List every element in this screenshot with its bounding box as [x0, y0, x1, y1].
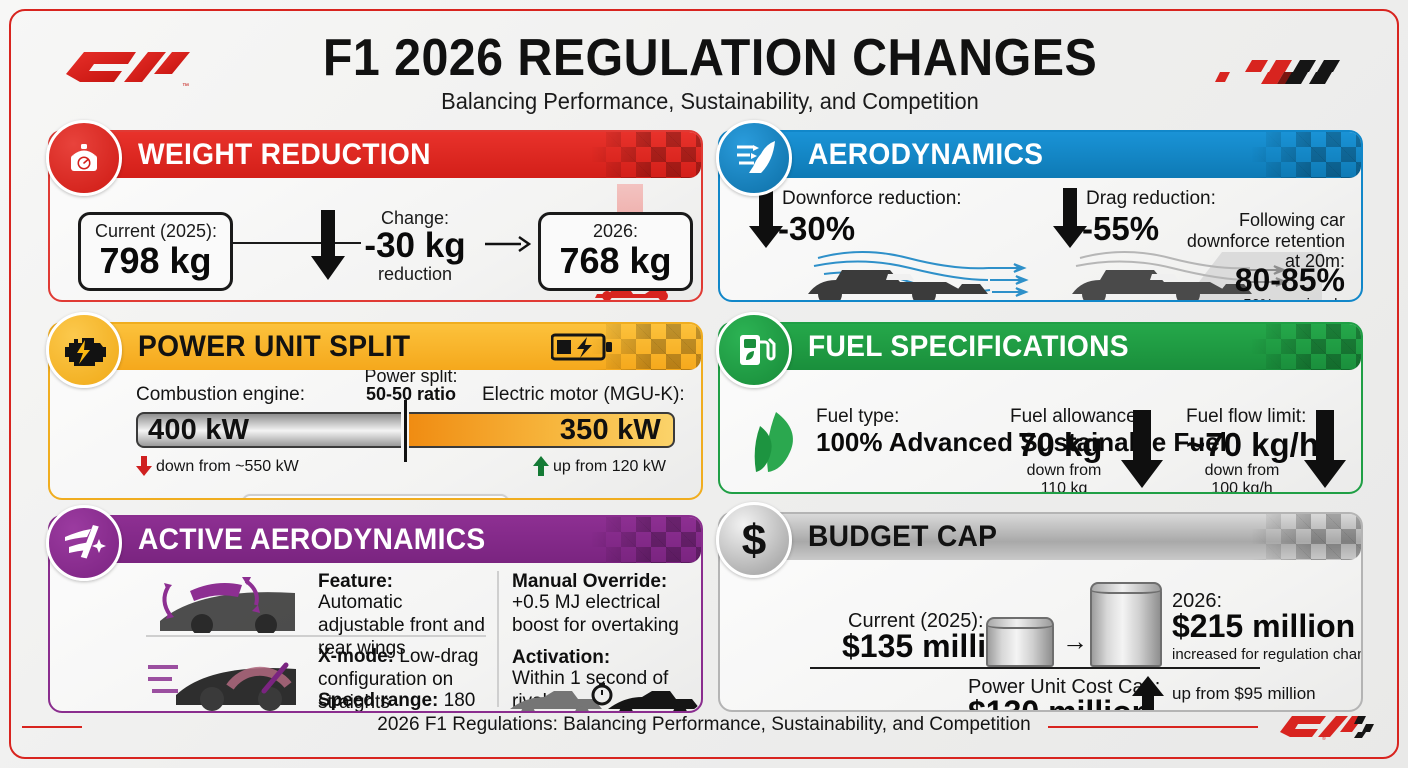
- svg-text:®: ®: [1322, 735, 1326, 742]
- weight-change-value: -30 kg: [340, 228, 490, 263]
- fuel-header: FUEL SPECIFICATIONS: [766, 324, 1361, 370]
- power-unit-header: POWER UNIT SPLIT: [96, 324, 701, 370]
- fuel-type-label: Fuel type:: [816, 406, 899, 428]
- up-arrow-icon: [1132, 676, 1164, 710]
- active-aero-header: ACTIVE AERODYNAMICS: [96, 517, 701, 563]
- fuel-pump-leaf-icon: [716, 312, 792, 388]
- following-value: 80-85%: [1167, 264, 1345, 298]
- down-arrow-red-icon: [136, 456, 152, 476]
- downforce-label: Downforce reduction:: [782, 188, 962, 210]
- feature-label: Feature:: [318, 571, 393, 593]
- card-active-aero: ACTIVE AERODYNAMICS: [48, 515, 703, 713]
- bar-2026-cap: [1090, 582, 1162, 594]
- ice-label: Combustion engine:: [136, 384, 305, 406]
- xmode-label: X-mode:: [318, 646, 394, 667]
- active-aero-title: ACTIVE AERODYNAMICS: [138, 523, 485, 557]
- budget-future-value: $215 million: [1172, 610, 1355, 644]
- fuel-title: FUEL SPECIFICATIONS: [808, 330, 1129, 364]
- weight-header: WEIGHT REDUCTION: [96, 132, 701, 178]
- em-bar: 350 kW: [409, 412, 675, 448]
- card-power-unit: POWER UNIT SPLIT Combustion engine: Powe…: [48, 322, 703, 500]
- weight-future-value: 768 kg: [555, 242, 676, 280]
- fuel-allowance-sub: down from 110 kg: [1018, 462, 1110, 492]
- budget-future-note: increased for regulation changes: [1172, 646, 1361, 663]
- fuel-allowance-value: 70 kg: [1018, 428, 1102, 461]
- card-aerodynamics: AERODYNAMICS Downforce reduction: -30% D…: [718, 130, 1363, 302]
- aero-title: AERODYNAMICS: [808, 138, 1043, 172]
- adjustable-wing-graphic: [150, 573, 305, 633]
- bar-current-cap: [986, 617, 1054, 629]
- up-arrow-green-icon: [533, 456, 549, 476]
- right-arrow-icon: [485, 233, 531, 255]
- fuel-type-value: 100% Advanced Sustainable Fuel: [816, 428, 1016, 457]
- following-note: vs 50% previously: [1167, 296, 1345, 300]
- fuel-flow-value: ~70 kg/h: [1186, 428, 1319, 461]
- battery-charge-icon: [551, 333, 613, 361]
- fuel-body: Fuel type: 100% Advanced Sustainable Fue…: [720, 370, 1361, 492]
- growth-arrow-icon: →: [1062, 626, 1088, 657]
- downforce-value: -30%: [778, 212, 855, 245]
- xmode-speed-graphic: [146, 647, 306, 711]
- power-unit-body: Combustion engine: Power split: 50-50 ra…: [50, 370, 701, 498]
- leaf-icon: [746, 410, 806, 474]
- weight-future-box: 2026: 768 kg: [538, 212, 693, 291]
- ice-value: 400 kW: [148, 414, 249, 447]
- checker-pattern: [591, 517, 701, 563]
- checker-pattern: [1251, 324, 1361, 370]
- fuel-flow-sub: down from 100 kg/h: [1190, 462, 1294, 492]
- weight-current-label: Current (2025):: [95, 221, 216, 242]
- bar-current: [986, 617, 1054, 667]
- checker-pattern: [1251, 132, 1361, 178]
- mguh-row: MGU-H: REMOVED: [50, 494, 701, 498]
- active-wing-icon: [46, 505, 122, 581]
- budget-header: BUDGET CAP: [766, 514, 1361, 560]
- budget-body: Current (2025): $135 million → 2026: $21…: [720, 560, 1361, 710]
- engine-bolt-icon: [46, 312, 122, 388]
- dollar-sign-icon: $: [716, 502, 792, 578]
- budget-title: BUDGET CAP: [808, 520, 997, 554]
- weight-current-box: Current (2025): 798 kg: [78, 212, 233, 291]
- aero-wing-icon: [716, 120, 792, 196]
- em-label: Electric motor (MGU-K):: [482, 384, 685, 406]
- checker-pattern: [591, 132, 701, 178]
- svg-text:$: $: [742, 517, 766, 563]
- em-sub: up from 120 kW: [553, 458, 666, 476]
- pu-cost-note-1: up from $95 million: [1172, 684, 1316, 704]
- drag-label: Drag reduction:: [1086, 188, 1216, 210]
- weight-change-sub: reduction: [350, 264, 480, 285]
- ice-bar: 400 kW: [136, 412, 401, 448]
- card-budget-cap: BUDGET CAP $ Current (2025): $135 millio…: [718, 512, 1363, 712]
- override-text: +0.5 MJ electrical boost for overtaking: [512, 591, 701, 637]
- down-arrow-icon: [1303, 410, 1347, 490]
- pu-cost-value: $130 million: [968, 696, 1151, 710]
- override-label: Manual Override:: [512, 571, 667, 593]
- two-cars-stopwatch-graphic: [506, 681, 701, 711]
- clean-airflow-car-graphic: [808, 244, 1043, 300]
- power-unit-title: POWER UNIT SPLIT: [138, 330, 410, 364]
- down-arrow-icon: [1120, 410, 1164, 490]
- aero-body: Downforce reduction: -30% Drag reduction…: [720, 178, 1361, 300]
- footer: 2026 F1 Regulations: Balancing Performan…: [0, 712, 1408, 742]
- split-value: 50-50 ratio: [346, 384, 476, 405]
- footer-rule-right: [1048, 726, 1258, 728]
- kitchen-scale-icon: [46, 120, 122, 196]
- bar-2026: [1090, 582, 1162, 667]
- page-subtitle: Balancing Performance, Sustainability, a…: [254, 88, 1166, 115]
- checkered-flag-icon: [1210, 46, 1360, 92]
- speed-label: Speed range:: [318, 690, 438, 711]
- drag-value: -55%: [1082, 212, 1159, 245]
- weight-title: WEIGHT REDUCTION: [138, 138, 431, 172]
- title-bar: ™ F1 2026 REGULATION CHANGES Balancing P…: [0, 18, 1408, 118]
- speed-block: Speed range: 180 mph (290 km/h) to 209 m…: [318, 689, 500, 711]
- aero-header: AERODYNAMICS: [766, 132, 1361, 178]
- chart-baseline: [810, 667, 1260, 669]
- f1-logo-footer: ®: [1278, 710, 1378, 742]
- fuel-flow-label: Fuel flow limit:: [1186, 406, 1306, 428]
- split-divider: [404, 400, 407, 462]
- weight-future-label: 2026:: [555, 221, 676, 242]
- checker-pattern: [1251, 514, 1361, 560]
- activation-label: Activation:: [512, 647, 610, 669]
- mguh-badge: MGU-H: REMOVED: [242, 494, 509, 498]
- weight-body: Current (2025): 798 kg Change: -30 kg re…: [50, 178, 701, 300]
- active-aero-body: Feature: Automatic adjustable front and …: [50, 563, 701, 711]
- svg-text:™: ™: [182, 83, 189, 90]
- card-weight-reduction: WEIGHT REDUCTION: [48, 130, 703, 302]
- ice-sub: down from ~550 kW: [156, 458, 299, 476]
- em-value: 350 kW: [560, 414, 661, 447]
- page-title: F1 2026 REGULATION CHANGES: [264, 28, 1157, 88]
- infographic-page: ™ F1 2026 REGULATION CHANGES Balancing P…: [0, 0, 1408, 768]
- footer-text: 2026 F1 Regulations: Balancing Performan…: [0, 714, 1408, 736]
- f1-logo: ™: [62, 44, 192, 90]
- card-fuel: FUEL SPECIFICATIONS Fuel type: 100% Adva…: [718, 322, 1363, 494]
- weight-current-value: 798 kg: [95, 242, 216, 280]
